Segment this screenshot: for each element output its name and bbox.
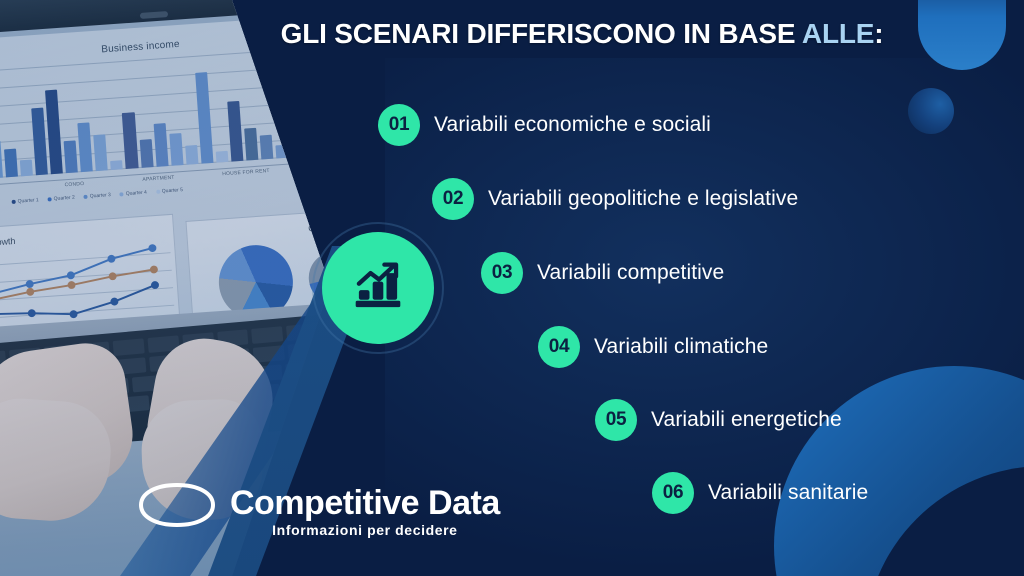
list-item-label: Variabili competitive	[537, 261, 724, 285]
list-item-number: 01	[378, 104, 420, 146]
brand-logo: Competitive Data Informazioni per decide…	[138, 482, 500, 538]
list-item-label: Variabili energetiche	[651, 408, 842, 432]
ellipse-outline-icon	[138, 482, 216, 528]
list-item-number: 05	[595, 399, 637, 441]
list-item-number: 04	[538, 326, 580, 368]
list-item-number: 02	[432, 178, 474, 220]
list-item-label: Variabili economiche e sociali	[434, 113, 711, 137]
list-item-label: Variabili sanitarie	[708, 481, 868, 505]
list-item-label: Variabili climatiche	[594, 335, 768, 359]
title-main: GLI SCENARI DIFFERISCONO IN BASE	[281, 18, 802, 49]
list-item-number: 03	[481, 252, 523, 294]
list-item[interactable]: 06 Variabili sanitarie	[652, 472, 868, 514]
list-item[interactable]: 02 Variabili geopolitiche e legislative	[432, 178, 798, 220]
page-title: GLI SCENARI DIFFERISCONO IN BASE ALLE:	[232, 18, 932, 50]
list-item[interactable]: 03 Variabili competitive	[481, 252, 724, 294]
title-highlight: ALLE	[802, 18, 874, 49]
list-item[interactable]: 05 Variabili energetiche	[595, 399, 842, 441]
logo-tagline: Informazioni per decidere	[272, 522, 457, 538]
list-item[interactable]: 01 Variabili economiche e sociali	[378, 104, 711, 146]
logo-name: Competitive Data	[230, 486, 500, 521]
list-item-label: Variabili geopolitiche e legislative	[488, 187, 798, 211]
list-item[interactable]: 04 Variabili climatiche	[538, 326, 768, 368]
title-colon: :	[874, 18, 883, 49]
list-item-number: 06	[652, 472, 694, 514]
slide-canvas: Business income	[0, 0, 1024, 576]
